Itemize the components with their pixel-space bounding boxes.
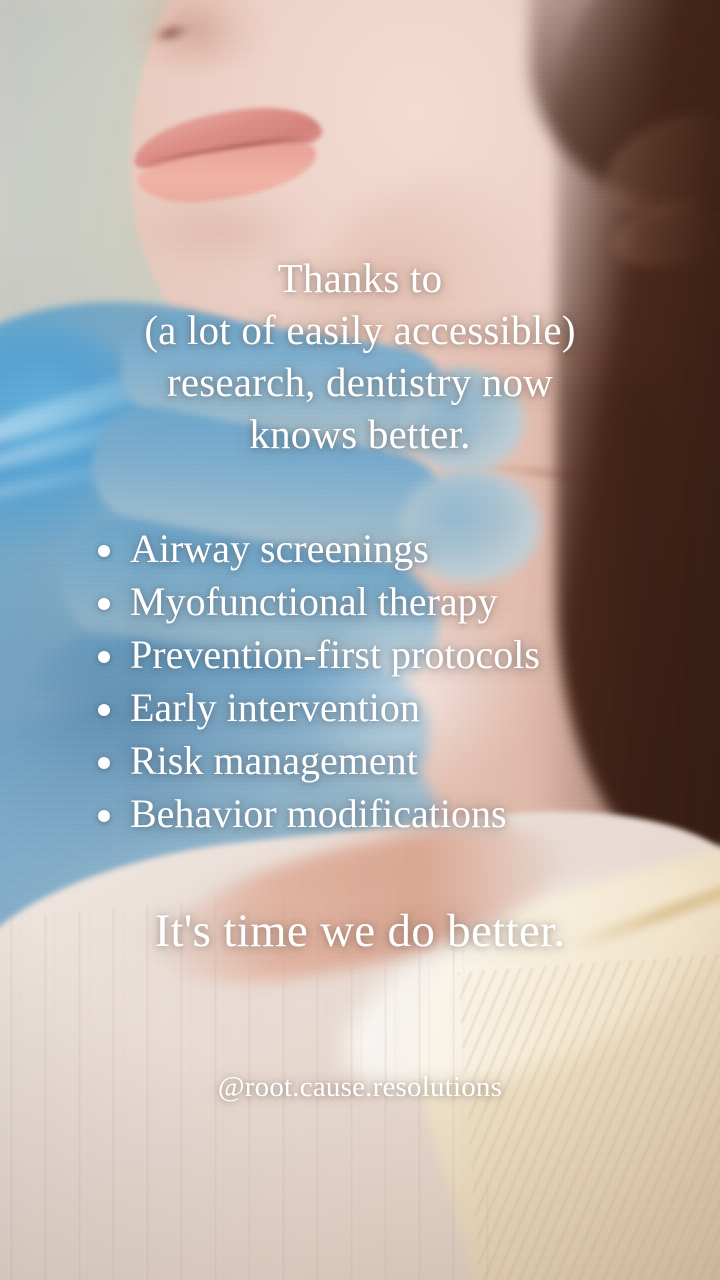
instagram-post-image: Thanks to (a lot of easily accessible) r… bbox=[0, 0, 720, 1280]
bullet-dot-icon bbox=[98, 810, 110, 822]
headline-line-3: research, dentistry now bbox=[0, 356, 720, 408]
list-item-label: Risk management bbox=[130, 738, 418, 783]
social-handle: @root.cause.resolutions bbox=[0, 1068, 720, 1106]
list-item: Risk management bbox=[96, 734, 696, 787]
list-item: Prevention-first protocols bbox=[96, 628, 696, 681]
list-item: Behavior modifications bbox=[96, 787, 696, 840]
headline-line-4: knows better. bbox=[0, 408, 720, 460]
bullet-dot-icon bbox=[98, 704, 110, 716]
list-item-label: Early intervention bbox=[130, 685, 420, 730]
benefits-list: Airway screenings Myofunctional therapy … bbox=[96, 522, 696, 840]
list-item: Myofunctional therapy bbox=[96, 575, 696, 628]
headline: Thanks to (a lot of easily accessible) r… bbox=[0, 252, 720, 460]
list-item-label: Airway screenings bbox=[130, 526, 429, 571]
closing-statement: It's time we do better. bbox=[0, 902, 720, 960]
bullet-dot-icon bbox=[98, 598, 110, 610]
bullet-dot-icon bbox=[98, 545, 110, 557]
headline-line-1: Thanks to bbox=[0, 252, 720, 304]
list-item-label: Myofunctional therapy bbox=[130, 579, 498, 624]
list-item-label: Behavior modifications bbox=[130, 791, 507, 836]
bullet-dot-icon bbox=[98, 651, 110, 663]
list-item: Airway screenings bbox=[96, 522, 696, 575]
bullet-dot-icon bbox=[98, 757, 110, 769]
list-item-label: Prevention-first protocols bbox=[130, 632, 540, 677]
list-item: Early intervention bbox=[96, 681, 696, 734]
text-overlay: Thanks to (a lot of easily accessible) r… bbox=[0, 0, 720, 1280]
headline-line-2: (a lot of easily accessible) bbox=[0, 304, 720, 356]
